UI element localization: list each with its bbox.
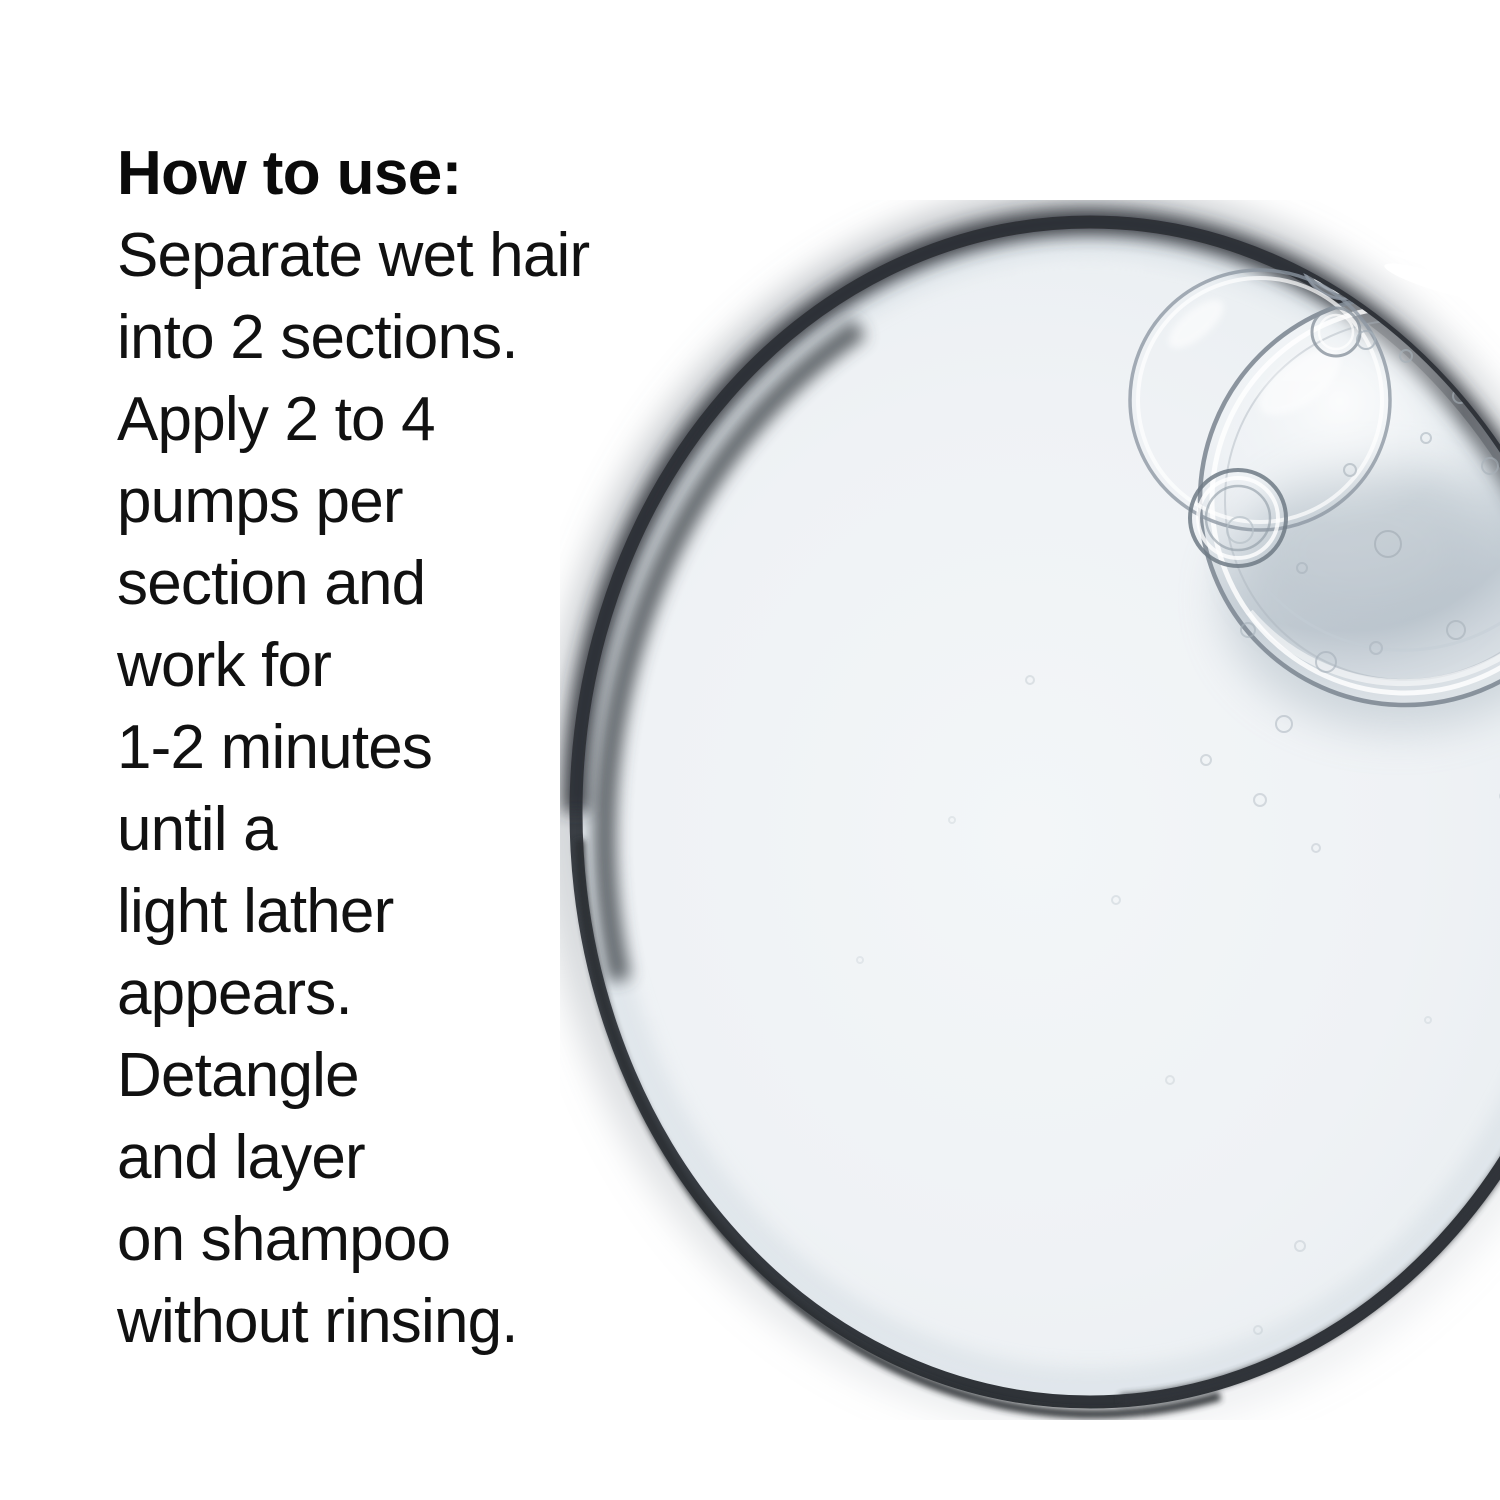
instruction-line: appears. <box>117 953 737 1035</box>
instruction-line: Apply 2 to 4 <box>117 379 737 461</box>
instruction-line: work for <box>117 625 737 707</box>
bubble-small-top-right <box>1485 215 1500 301</box>
instruction-line: pumps per <box>117 461 737 543</box>
bubble-ring-left <box>1190 470 1286 566</box>
micro-bubbles <box>857 331 1500 1334</box>
bubble-tiny-connector <box>1312 308 1360 356</box>
bubble-small-top-middle <box>1398 206 1482 290</box>
instruction-line: until a <box>117 789 737 871</box>
instruction-line: 1-2 minutes <box>117 707 737 789</box>
instruction-line: without rinsing. <box>117 1281 737 1363</box>
instruction-line: and layer <box>117 1117 737 1199</box>
bubble-medium-left <box>1130 270 1390 530</box>
instruction-line: Separate wet hair <box>117 215 737 297</box>
how-to-use-block: How to use: Separate wet hairinto 2 sect… <box>117 133 737 1363</box>
instruction-line: on shampoo <box>117 1199 737 1281</box>
instruction-line: into 2 sections. <box>117 297 737 379</box>
droplet-rim-highlight <box>1382 247 1494 307</box>
instruction-line: section and <box>117 543 737 625</box>
how-to-use-body: Separate wet hairinto 2 sections.Apply 2… <box>117 215 737 1363</box>
bubble-large <box>1200 295 1500 705</box>
instruction-line: light lather <box>117 871 737 953</box>
how-to-use-heading: How to use: <box>117 133 737 215</box>
bubble-cluster <box>857 206 1500 1334</box>
product-swatch-graphic: How to use: Separate wet hairinto 2 sect… <box>0 0 1500 1500</box>
instruction-line: Detangle <box>117 1035 737 1117</box>
bubble-small-top-left <box>1301 211 1389 299</box>
